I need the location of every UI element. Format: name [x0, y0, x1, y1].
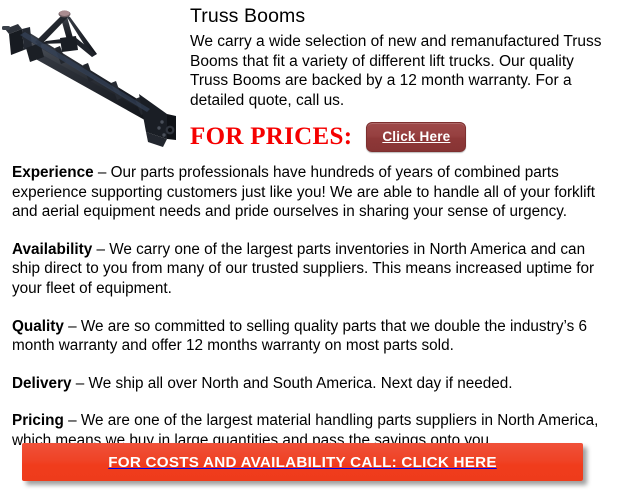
cta-call-banner[interactable]: FOR COSTS AND AVAILABILITY CALL: CLICK H…: [22, 443, 583, 481]
product-intro-block: Truss Booms We carry a wide selection of…: [190, 4, 615, 110]
feature-term-pricing: Pricing: [12, 412, 64, 429]
feature-text-delivery: We ship all over North and South America…: [89, 375, 513, 392]
page-title: Truss Booms: [190, 4, 615, 28]
feature-dash-pricing: –: [64, 412, 81, 429]
feature-dash-experience: –: [94, 164, 111, 181]
product-header-section: Truss Booms We carry a wide selection of…: [0, 0, 619, 160]
product-intro-text: We carry a wide selection of new and rem…: [190, 32, 615, 110]
feature-delivery: Delivery – We ship all over North and So…: [12, 374, 608, 394]
features-list: Experience – Our parts professionals hav…: [12, 163, 608, 451]
for-prices-label: FOR PRICES:: [190, 123, 352, 151]
feature-quality: Quality – We are so committed to selling…: [12, 317, 608, 356]
feature-dash-quality: –: [64, 318, 81, 335]
feature-experience: Experience – Our parts professionals hav…: [12, 163, 608, 222]
feature-dash-delivery: –: [72, 375, 89, 392]
feature-term-availability: Availability: [12, 241, 92, 258]
feature-term-experience: Experience: [12, 164, 94, 181]
truss-boom-icon: [0, 2, 190, 152]
truss-boom-product-image: [0, 2, 190, 152]
click-here-button[interactable]: Click Here: [366, 122, 466, 152]
feature-text-quality: We are so committed to selling quality p…: [12, 318, 587, 355]
feature-term-quality: Quality: [12, 318, 64, 335]
feature-dash-availability: –: [92, 241, 109, 258]
cta-banner-label: FOR COSTS AND AVAILABILITY CALL: CLICK H…: [108, 454, 496, 471]
for-prices-row: FOR PRICES: Click Here: [190, 122, 466, 152]
feature-term-delivery: Delivery: [12, 375, 72, 392]
feature-availability: Availability – We carry one of the large…: [12, 240, 608, 299]
